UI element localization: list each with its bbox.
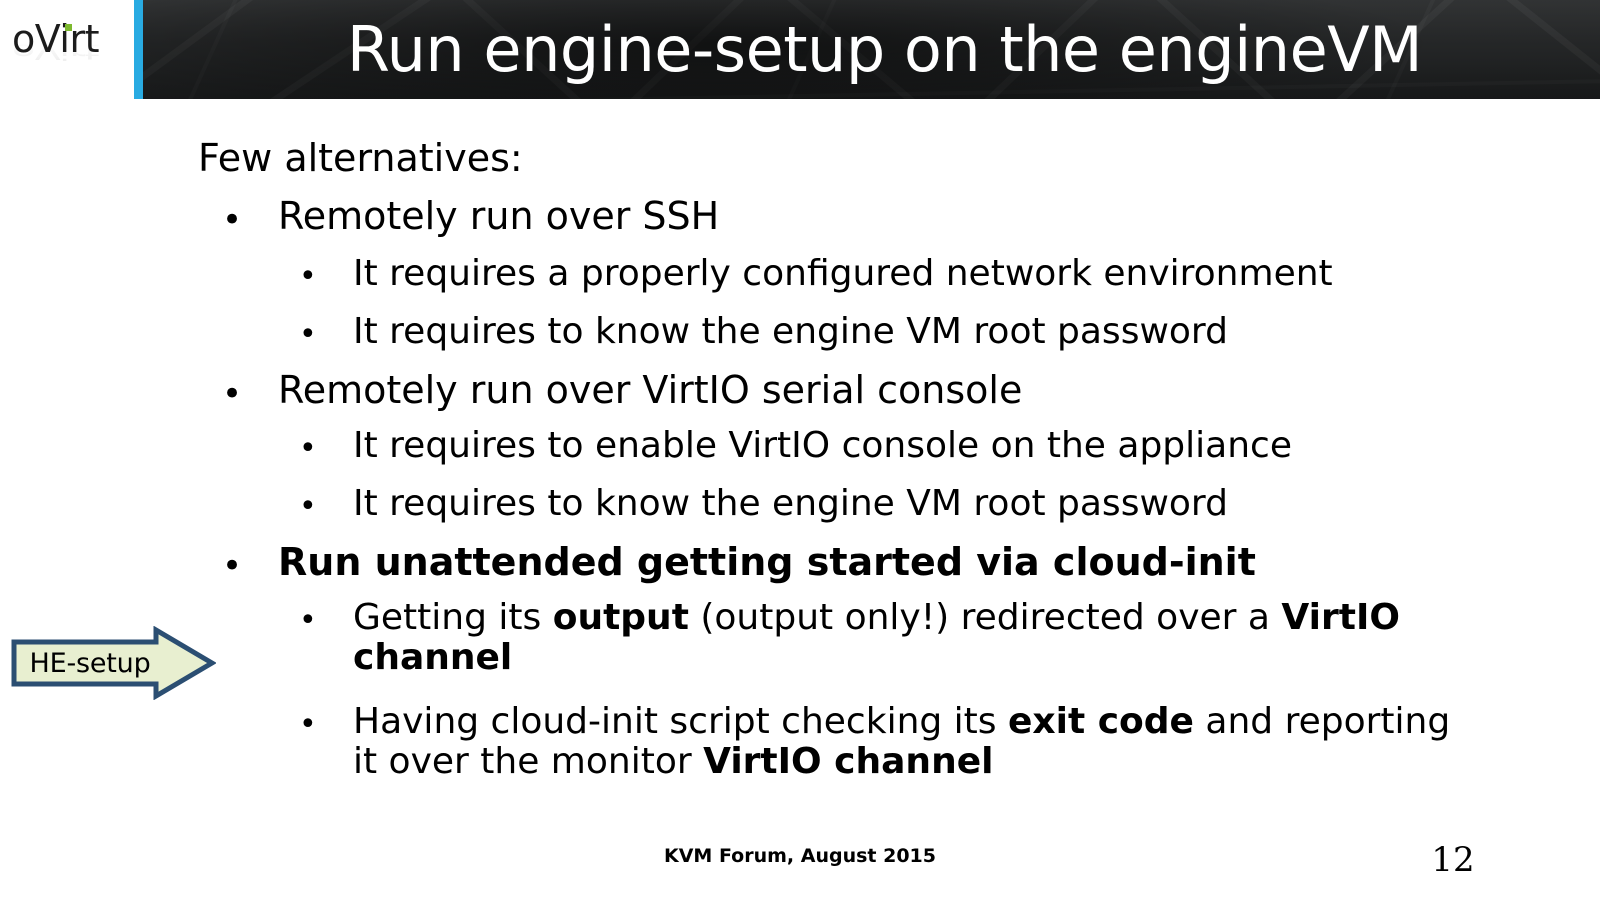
slide-body: Few alternatives: • Remotely run over SS… — [0, 99, 1600, 799]
callout-label: HE-setup — [10, 626, 170, 700]
he-setup-callout: HE-setup — [10, 626, 216, 700]
text-run-bold: output — [553, 597, 689, 638]
bullet-icon: • — [299, 710, 317, 740]
list-item: Remotely run over VirtIO serial console — [278, 369, 1548, 412]
page-number: 12 — [1418, 840, 1488, 880]
bullet-icon: • — [299, 262, 317, 292]
text-run: Having cloud-init script checking its — [353, 701, 1008, 742]
accent-bar — [134, 0, 143, 99]
list-item: Remotely run over SSH — [278, 195, 1548, 238]
bullet-icon: • — [222, 203, 242, 237]
list-item-highlighted: Run unattended getting started via cloud… — [278, 541, 1548, 584]
bullet-icon: • — [299, 434, 317, 464]
slide: oVirt oVirt — [0, 0, 1600, 900]
list-item: It requires to know the engine VM root p… — [353, 312, 1483, 352]
page-title: Run engine-setup on the engineVM — [143, 0, 1600, 99]
bullet-icon: • — [299, 320, 317, 350]
footer-note: KVM Forum, August 2015 — [0, 845, 1600, 867]
slide-header: oVirt oVirt — [0, 0, 1600, 99]
list-item: Having cloud-init script checking its ex… — [353, 702, 1483, 783]
text-run: (output only!) redirected over a — [689, 597, 1282, 638]
text-run: Getting its — [353, 597, 553, 638]
bullet-icon: • — [222, 549, 242, 583]
ovirt-logo: oVirt oVirt — [8, 18, 128, 90]
list-item: It requires a properly configured networ… — [353, 254, 1483, 294]
text-run-bold: VirtIO channel — [703, 741, 993, 782]
logo-green-dot-icon — [65, 24, 72, 31]
bullet-icon: • — [299, 492, 317, 522]
list-item: Getting its output (output only!) redire… — [353, 598, 1483, 679]
bullet-icon: • — [299, 606, 317, 636]
bullet-icon: • — [222, 377, 242, 411]
text-run-bold: exit code — [1008, 701, 1194, 742]
body-intro: Few alternatives: — [198, 137, 1538, 180]
title-banner: Run engine-setup on the engineVM — [143, 0, 1600, 99]
list-item: It requires to enable VirtIO console on … — [353, 426, 1483, 466]
logo-wordmark: oVirt — [12, 20, 99, 58]
list-item: It requires to know the engine VM root p… — [353, 484, 1483, 524]
